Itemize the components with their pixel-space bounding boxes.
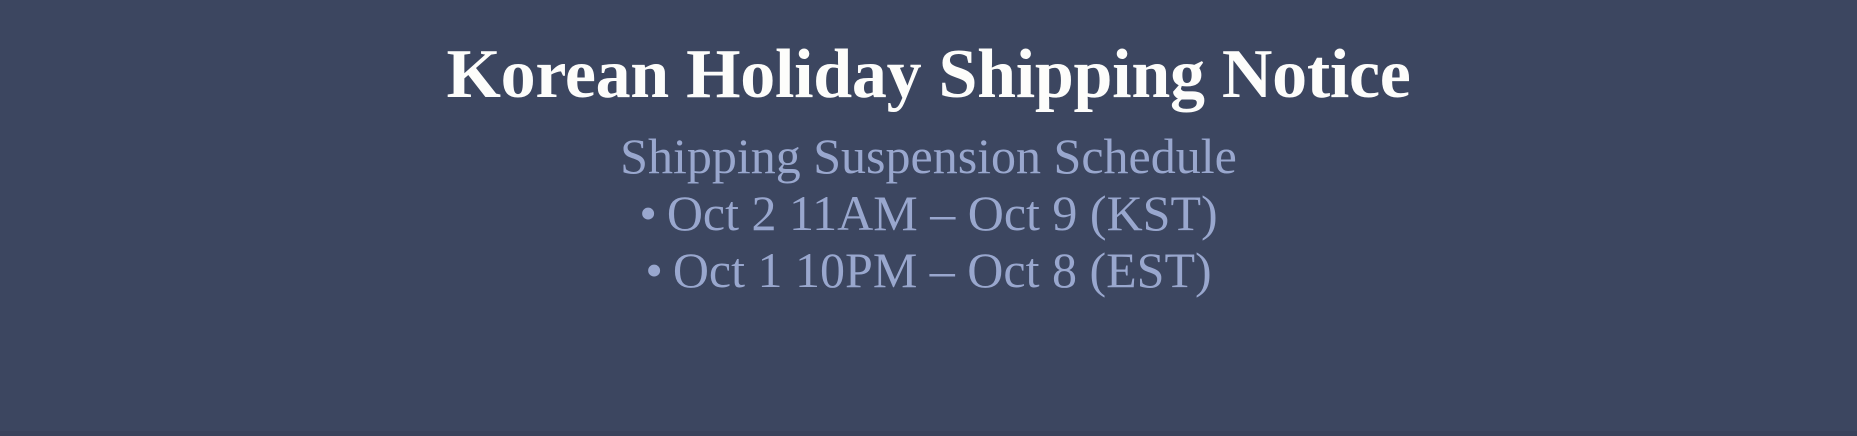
notice-body: Shipping Suspension Schedule • Oct 2 11A…	[620, 128, 1237, 299]
page-title: Korean Holiday Shipping Notice	[446, 38, 1410, 112]
schedule-item-label: Oct 1 10PM – Oct 8 (EST)	[673, 242, 1212, 299]
notice-subtitle: Shipping Suspension Schedule	[620, 128, 1237, 185]
suspension-schedule-list: • Oct 2 11AM – Oct 9 (KST) • Oct 1 10PM …	[639, 185, 1217, 299]
list-item: • Oct 2 11AM – Oct 9 (KST)	[639, 185, 1217, 242]
holiday-shipping-notice-banner: Korean Holiday Shipping Notice Shipping …	[0, 0, 1857, 436]
bullet-icon: •	[639, 188, 657, 238]
bullet-icon: •	[645, 245, 663, 295]
list-item: • Oct 1 10PM – Oct 8 (EST)	[645, 242, 1211, 299]
banner-bottom-edge	[0, 431, 1857, 436]
schedule-item-label: Oct 2 11AM – Oct 9 (KST)	[667, 185, 1218, 242]
